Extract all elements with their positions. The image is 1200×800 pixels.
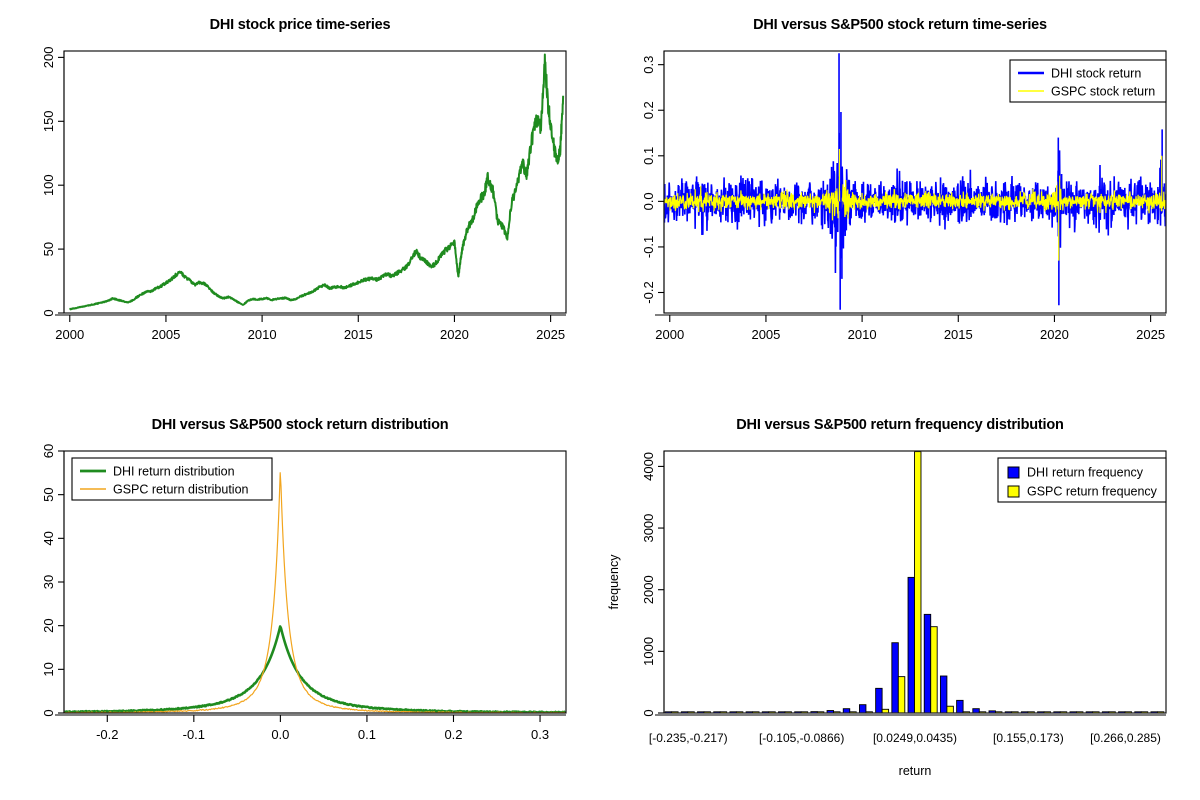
x-axis-label: 2015 [344, 327, 373, 342]
x-axis-label: 0.3 [531, 727, 549, 742]
panel-dhi-vs-sp500-return-timeseries: DHI versus S&P500 stock return time-seri… [600, 0, 1200, 400]
y-axis-label: 50 [41, 242, 56, 256]
plot-dhi-vs-sp500-return-timeseries: -0.2-0.10.00.10.20.320002005201020152020… [600, 0, 1200, 400]
x-axis-label: 0.0 [271, 727, 289, 742]
x-axis-label: 2005 [751, 327, 780, 342]
bar-dhi [973, 709, 979, 713]
bar-gspc [931, 627, 937, 713]
bar-gspc [947, 706, 953, 713]
y-axis-label: 0.3 [641, 56, 656, 74]
bar-gspc [882, 709, 888, 713]
bar-dhi [924, 614, 930, 713]
plot-dhi-vs-sp500-return-frequency: 01000200030004000[-0.235,-0.217)[-0.105,… [600, 400, 1200, 800]
x-axis-label: 2005 [151, 327, 180, 342]
x-axis-label: -0.2 [96, 727, 118, 742]
x-bin-label: [0.266,0.285) [1090, 731, 1161, 745]
x-bin-label: [0.155,0.173) [993, 731, 1064, 745]
y-axis-label: 10 [41, 662, 56, 676]
y-axis-label: 0.0 [641, 192, 656, 210]
legend-label-0: DHI stock return [1051, 67, 1141, 81]
y-axis-label: 100 [41, 174, 56, 196]
plot-dhi-price-timeseries: 050100150200200020052010201520202025 [0, 0, 600, 400]
y-axis-label: 60 [41, 444, 56, 458]
x-bin-label: [-0.105,-0.0866) [759, 731, 844, 745]
x-axis-label: 0.2 [444, 727, 462, 742]
bar-dhi [957, 700, 963, 713]
bar-gspc [915, 452, 921, 713]
y-axis-label: 2000 [641, 575, 656, 604]
y-axis-label: 50 [41, 487, 56, 501]
legend-label-0: DHI return distribution [113, 465, 235, 479]
y-axis-title: frequency [607, 554, 621, 610]
y-axis-label: -0.1 [641, 236, 656, 258]
y-axis-label: 0.1 [641, 147, 656, 165]
y-axis-label: -0.2 [641, 281, 656, 303]
y-axis-label: 4000 [641, 452, 656, 481]
legend-label-0: DHI return frequency [1027, 466, 1144, 480]
plot-dhi-vs-sp500-return-distribution: 0102030405060-0.2-0.10.00.10.20.3DHI ret… [0, 400, 600, 800]
y-axis-label: 0.2 [641, 101, 656, 119]
y-axis-label: 3000 [641, 514, 656, 543]
legend-label-1: GSPC return frequency [1027, 485, 1158, 499]
y-axis-label: 40 [41, 531, 56, 545]
bar-dhi [908, 577, 914, 713]
figure-root: DHI stock price time-series 050100150200… [0, 0, 1200, 800]
legend-swatch-1 [1008, 486, 1019, 497]
bar-dhi [843, 709, 849, 713]
x-axis-label: 2020 [1040, 327, 1069, 342]
x-axis-label: 2010 [248, 327, 277, 342]
x-bin-label: [-0.235,-0.217) [649, 731, 728, 745]
x-axis-label: 2000 [55, 327, 84, 342]
panel-dhi-price-timeseries: DHI stock price time-series 050100150200… [0, 0, 600, 400]
y-axis-label: 30 [41, 575, 56, 589]
legend-label-1: GSPC return distribution [113, 483, 249, 497]
x-axis-label: 2015 [944, 327, 973, 342]
x-axis-label: 0.1 [358, 727, 376, 742]
legend-swatch-0 [1008, 467, 1019, 478]
bar-dhi [940, 676, 946, 713]
y-axis-label: 150 [41, 110, 56, 132]
bar-dhi [892, 643, 898, 713]
x-axis-label: 2025 [1136, 327, 1165, 342]
bar-dhi [859, 705, 865, 713]
x-axis-label: 2020 [440, 327, 469, 342]
gspc-density-line [64, 473, 566, 713]
y-axis-label: 0 [641, 709, 656, 716]
x-axis-label: -0.1 [183, 727, 205, 742]
y-axis-label: 200 [41, 47, 56, 69]
bar-gspc [898, 677, 904, 713]
y-axis-label: 0 [41, 309, 56, 316]
y-axis-label: 20 [41, 618, 56, 632]
panel-dhi-vs-sp500-return-distribution: DHI versus S&P500 stock return distribut… [0, 400, 600, 800]
y-axis-label: 0 [41, 709, 56, 716]
bar-dhi [876, 688, 882, 713]
x-bin-label: [0.0249,0.0435) [873, 731, 957, 745]
y-axis-label: 1000 [641, 637, 656, 666]
price-line [70, 54, 563, 309]
panel-dhi-vs-sp500-return-frequency-distribution: DHI versus S&P500 return frequency distr… [600, 400, 1200, 800]
x-axis-label: 2010 [848, 327, 877, 342]
x-axis-label: 2000 [655, 327, 684, 342]
x-axis-title: return [899, 764, 932, 778]
x-axis-label: 2025 [536, 327, 565, 342]
legend-label-1: GSPC stock return [1051, 85, 1155, 99]
